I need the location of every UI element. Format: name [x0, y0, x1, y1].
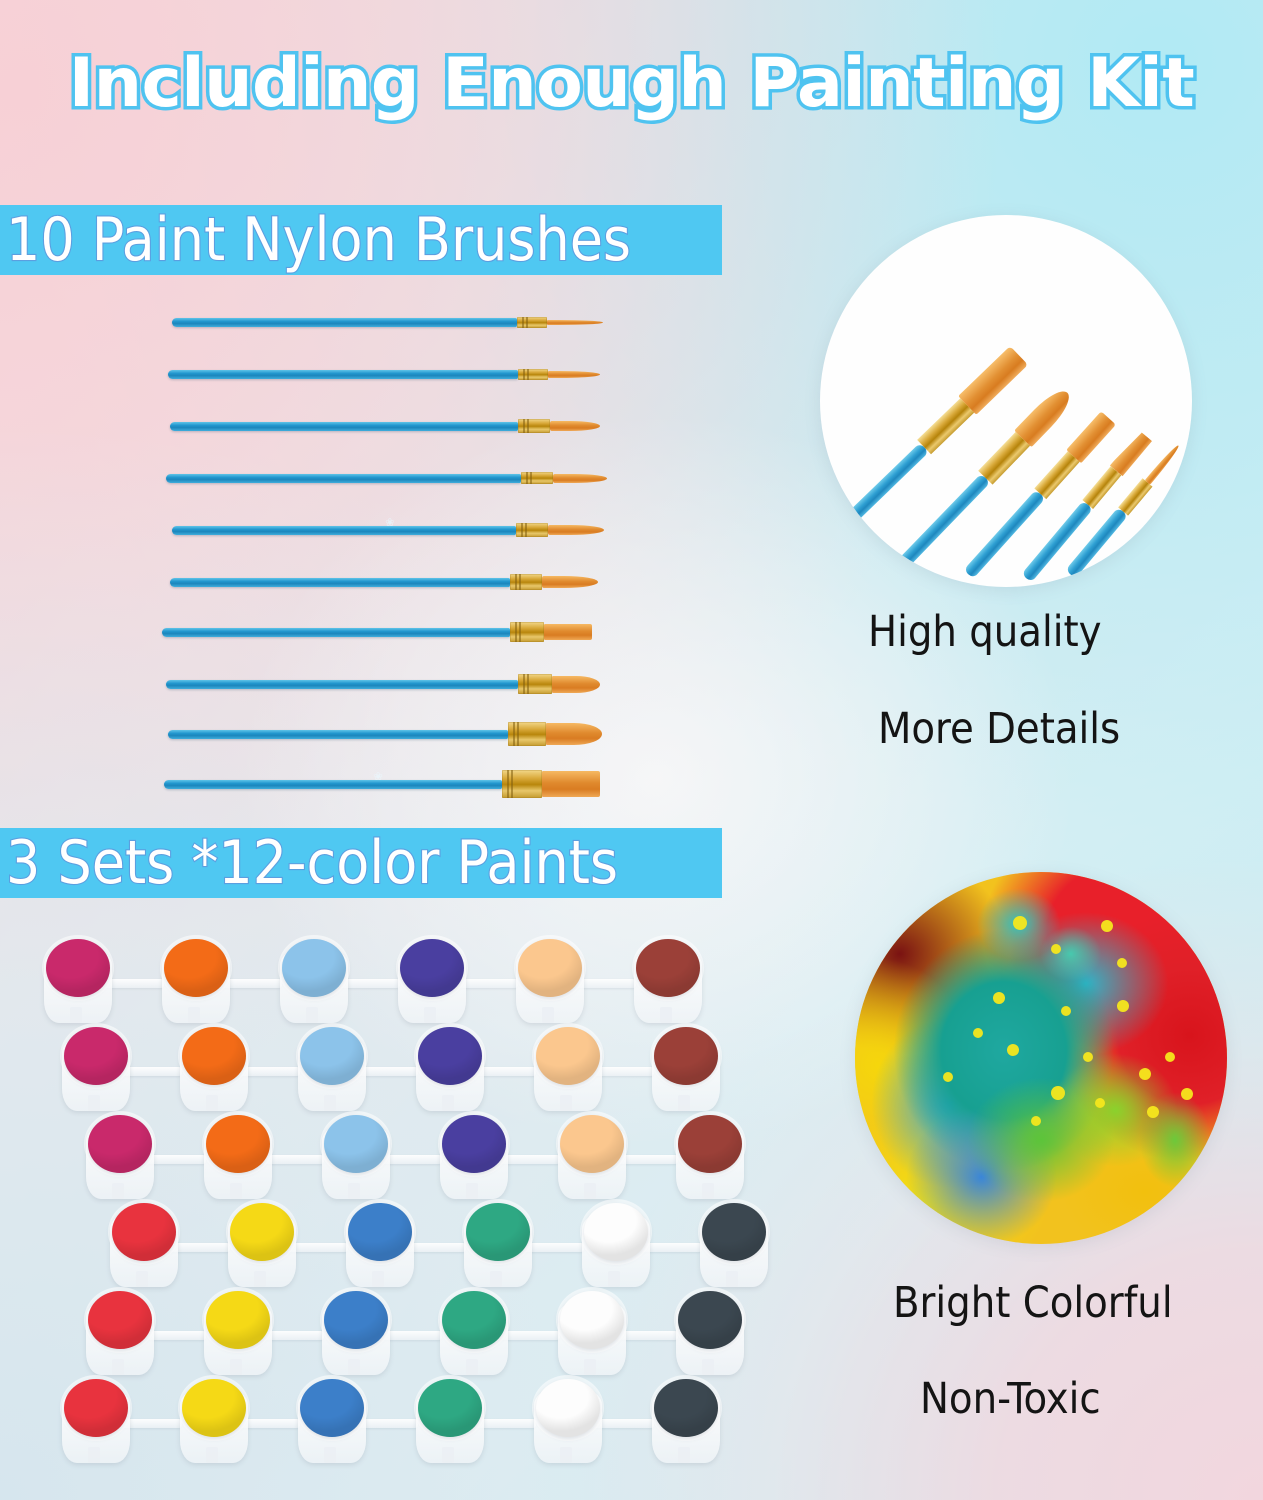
splash-droplet	[973, 1028, 983, 1038]
paint-pot-orange	[200, 1111, 276, 1203]
paint-pot-magenta	[82, 1111, 158, 1203]
paint-pot-yellow	[200, 1287, 276, 1379]
paint-pot-purple	[436, 1111, 512, 1203]
pot-paint-surface	[164, 939, 228, 997]
paint-pot-white	[578, 1199, 654, 1291]
brush-handle	[164, 780, 502, 789]
paint-pot-blue	[318, 1287, 394, 1379]
fan-brush-bristle	[1066, 411, 1116, 463]
pot-paint-surface	[560, 1291, 624, 1349]
brush-fan-photo	[820, 215, 1192, 587]
paint-pot-purple	[394, 935, 470, 1027]
brush-lineup: ❀❀	[150, 305, 650, 795]
splash-droplet	[1031, 1116, 1041, 1126]
brush-liner-fine	[172, 311, 603, 333]
pot-paint-surface	[442, 1115, 506, 1173]
paint-pot-blue	[294, 1375, 370, 1467]
pot-paint-surface	[442, 1291, 506, 1349]
splash-droplet	[1013, 916, 1027, 930]
paint-pot-grid	[40, 935, 800, 1485]
paint-pot-blue	[342, 1199, 418, 1291]
paint-pot-red	[82, 1287, 158, 1379]
splash-droplet	[1147, 1106, 1159, 1118]
pot-paint-surface	[702, 1203, 766, 1261]
brush-ferrule	[510, 574, 542, 589]
brush-ferrule	[502, 770, 542, 799]
splash-droplet	[1101, 920, 1113, 932]
splash-droplet	[1117, 1000, 1129, 1012]
brush-handle	[168, 370, 518, 379]
fan-brush-ferrule	[1034, 451, 1079, 499]
splash-droplet	[1051, 1086, 1065, 1100]
pot-paint-surface	[678, 1291, 742, 1349]
pot-paint-surface	[88, 1291, 152, 1349]
brush-ferrule	[508, 722, 546, 747]
brush-handle	[172, 526, 516, 535]
brush-handle	[170, 578, 510, 587]
brush-ferrule	[517, 317, 547, 328]
brush-flat-wide: ❀	[164, 773, 600, 795]
brush-filbert-large	[168, 723, 602, 745]
brush-bristle-liner	[547, 320, 603, 325]
splash-droplet	[1117, 958, 1127, 968]
paint-pot-purple	[412, 1023, 488, 1115]
paint-splash-photo	[855, 872, 1227, 1244]
paint-pot-orange	[158, 935, 234, 1027]
paint-pot-magenta	[58, 1023, 134, 1115]
paint-pot-light-blue	[294, 1023, 370, 1115]
pot-paint-surface	[182, 1027, 246, 1085]
pot-paint-surface	[182, 1379, 246, 1437]
paint-pot-magenta	[40, 935, 116, 1027]
brush-bristle-flat	[542, 771, 600, 797]
pot-paint-surface	[536, 1379, 600, 1437]
paint-pot-peach	[512, 935, 588, 1027]
brush-round-medium	[166, 467, 607, 489]
pot-paint-surface	[64, 1379, 128, 1437]
brush-handle	[162, 628, 510, 637]
brush-logo-mark: ❀	[374, 770, 383, 783]
section-banner-paints: 3 Sets *12-color Paints	[0, 828, 722, 898]
caption-high-quality: High quality	[868, 607, 1102, 657]
brush-bristle-round	[548, 525, 604, 535]
brush-flat-small	[162, 621, 592, 643]
section-banner-brushes-label: 10 Paint Nylon Brushes	[6, 205, 631, 275]
fan-brush-bristle	[958, 346, 1028, 415]
paint-pot-green	[436, 1287, 512, 1379]
pot-paint-surface	[400, 939, 464, 997]
paint-pot-green	[460, 1199, 536, 1291]
brush-bristle-flat	[544, 624, 592, 640]
brush-handle	[170, 422, 518, 431]
caption-more-details: More Details	[878, 704, 1120, 754]
page-headline: Including Enough Painting Kit	[0, 44, 1263, 123]
splash-droplet	[1083, 1052, 1093, 1062]
brush-bristle-filbert	[552, 676, 600, 693]
paint-pot-yellow	[224, 1199, 300, 1291]
pot-paint-surface	[418, 1027, 482, 1085]
splash-droplet	[1181, 1088, 1193, 1100]
pot-paint-surface	[636, 939, 700, 997]
pot-paint-surface	[300, 1027, 364, 1085]
caption-bright-colorful: Bright Colorful	[893, 1278, 1173, 1328]
fan-brush-ferrule	[1118, 478, 1152, 515]
splash-droplet	[1051, 944, 1061, 954]
splash-droplet	[993, 992, 1005, 1004]
pot-paint-surface	[64, 1027, 128, 1085]
pot-paint-surface	[88, 1115, 152, 1173]
section-banner-paints-label: 3 Sets *12-color Paints	[6, 828, 618, 898]
paint-pot-red	[58, 1375, 134, 1467]
pot-paint-surface	[324, 1291, 388, 1349]
pot-paint-surface	[324, 1115, 388, 1173]
splash-droplet	[1061, 1006, 1071, 1016]
section-banner-brushes: 10 Paint Nylon Brushes	[0, 205, 722, 275]
pot-paint-surface	[206, 1115, 270, 1173]
pot-paint-surface	[206, 1291, 270, 1349]
paint-pot-light-blue	[318, 1111, 394, 1203]
paint-pot-white	[554, 1287, 630, 1379]
pot-paint-surface	[230, 1203, 294, 1261]
brush-handle	[166, 474, 521, 483]
pot-paint-surface	[654, 1027, 718, 1085]
brush-ferrule	[518, 419, 550, 433]
paint-pot-slate	[696, 1199, 772, 1291]
paint-pot-light-blue	[276, 935, 352, 1027]
splash-droplet	[943, 1072, 953, 1082]
brush-ferrule	[516, 523, 548, 537]
fan-brush-bristle	[1014, 384, 1076, 447]
brush-ferrule	[518, 369, 548, 380]
paint-pot-brown	[672, 1111, 748, 1203]
brush-filbert-small	[166, 673, 600, 695]
paint-pot-orange	[176, 1023, 252, 1115]
pot-paint-surface	[584, 1203, 648, 1261]
pot-paint-surface	[46, 939, 110, 997]
splash-droplet	[1165, 1052, 1175, 1062]
brush-bristle-round	[553, 474, 607, 483]
fan-brush-handle	[827, 442, 928, 540]
paint-pot-slate	[672, 1287, 748, 1379]
paint-pot-brown	[630, 935, 706, 1027]
pot-paint-surface	[678, 1115, 742, 1173]
brush-round-medium-2: ❀	[172, 519, 604, 541]
brush-bristle-round	[550, 421, 600, 431]
brush-liner-small	[168, 363, 600, 385]
brush-handle	[166, 680, 518, 689]
splash-droplet	[1139, 1068, 1151, 1080]
paint-pot-yellow	[176, 1375, 252, 1467]
pot-paint-surface	[112, 1203, 176, 1261]
brush-bristle-round	[542, 576, 598, 588]
paint-pot-green	[412, 1375, 488, 1467]
fan-brush-ferrule	[917, 398, 975, 455]
paint-pot-peach	[554, 1111, 630, 1203]
brush-round-large	[170, 571, 598, 593]
brush-round-small	[170, 415, 600, 437]
caption-non-toxic: Non-Toxic	[920, 1374, 1101, 1424]
brush-bristle-liner	[548, 371, 600, 378]
brush-handle	[168, 730, 508, 739]
splash-droplet	[1007, 1044, 1019, 1056]
pot-paint-surface	[518, 939, 582, 997]
pot-paint-surface	[348, 1203, 412, 1261]
brush-ferrule	[518, 674, 552, 694]
pot-paint-surface	[466, 1203, 530, 1261]
pot-paint-surface	[654, 1379, 718, 1437]
splash-droplet	[1095, 1098, 1105, 1108]
pot-paint-surface	[418, 1379, 482, 1437]
paint-pot-peach	[530, 1023, 606, 1115]
paint-pot-brown	[648, 1023, 724, 1115]
brush-logo-mark: ❀	[385, 516, 394, 529]
brush-ferrule	[521, 472, 553, 485]
pot-paint-surface	[282, 939, 346, 997]
brush-handle	[172, 318, 517, 327]
brush-bristle-filbert	[546, 723, 602, 745]
paint-pot-white	[530, 1375, 606, 1467]
infographic-page: Including Enough Painting Kit 10 Paint N…	[0, 0, 1263, 1500]
pot-paint-surface	[560, 1115, 624, 1173]
pot-paint-surface	[300, 1379, 364, 1437]
brush-ferrule	[510, 622, 544, 641]
pot-paint-surface	[536, 1027, 600, 1085]
paint-pot-slate	[648, 1375, 724, 1467]
paint-pot-red	[106, 1199, 182, 1291]
fan-brush-ferrule	[978, 432, 1029, 484]
